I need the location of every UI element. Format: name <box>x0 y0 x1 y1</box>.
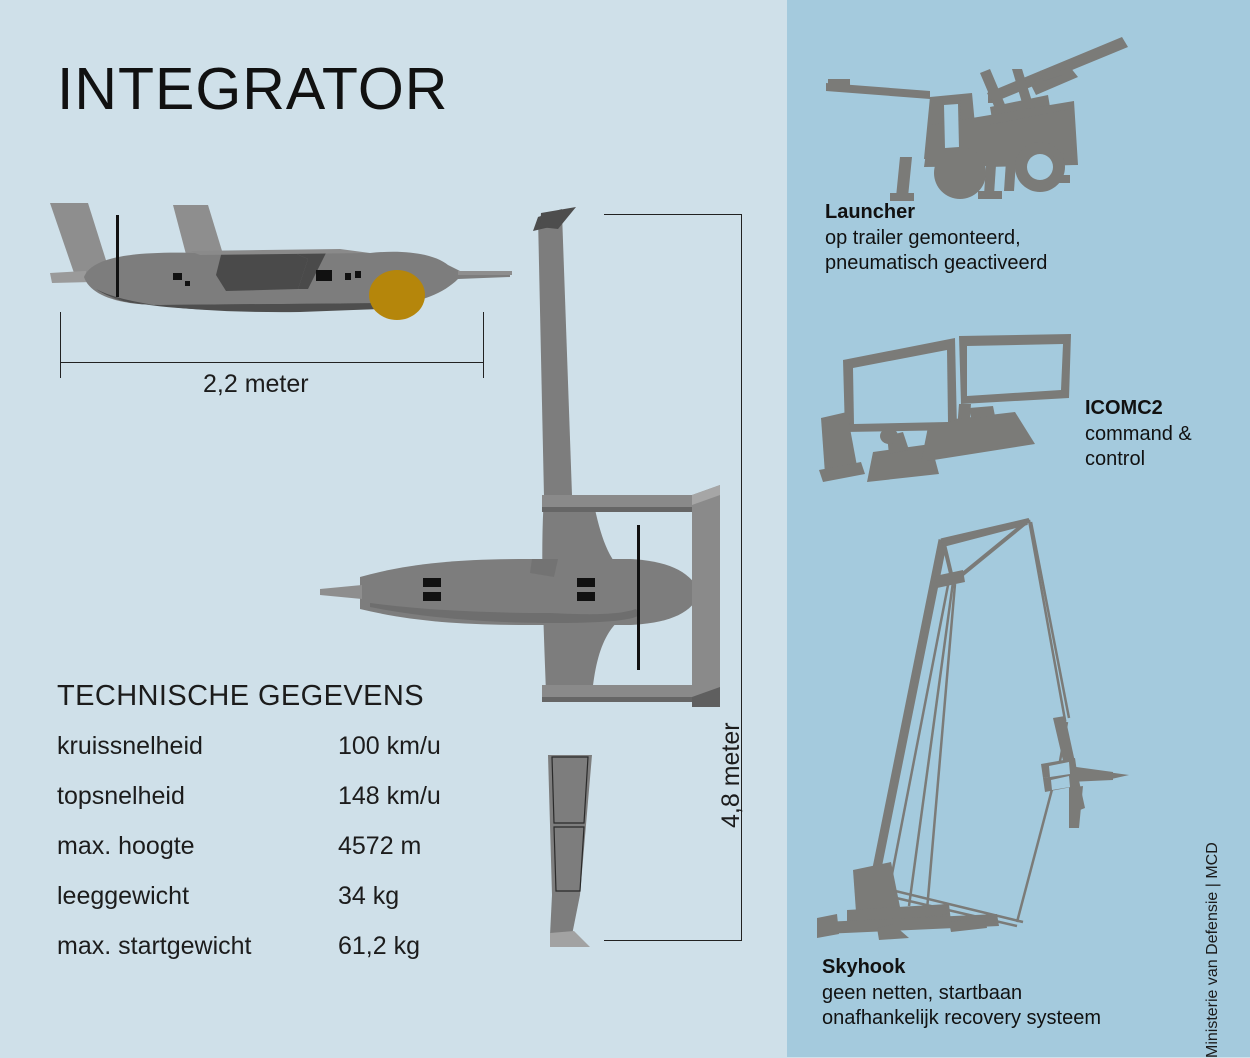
ground-control-station-silhouette <box>817 332 1097 492</box>
spec-value: 148 km/u <box>338 782 441 811</box>
wingspan-dimension-line-bottom <box>604 940 742 941</box>
callout-icomc2: ICOMC2 command & control <box>1085 396 1250 473</box>
spec-label: topsnelheid <box>57 782 338 811</box>
spec-label: kruissnelheid <box>57 732 338 761</box>
spec-label: max. startgewicht <box>57 932 338 961</box>
spec-label: max. hoogte <box>57 832 338 861</box>
table-row: max. hoogte 4572 m <box>57 832 477 882</box>
spec-value: 100 km/u <box>338 732 441 761</box>
callout-title: Skyhook <box>822 955 1122 981</box>
length-dimension-label: 2,2 meter <box>203 370 309 399</box>
specs-table: kruissnelheid 100 km/u topsnelheid 148 k… <box>57 732 477 982</box>
wingspan-dimension-line <box>741 214 742 941</box>
left-panel: INTEGRATOR <box>0 0 787 1057</box>
spec-label: leeggewicht <box>57 882 338 911</box>
right-panel: Launcher op trailer gemonteerd, pneumati… <box>787 0 1250 1057</box>
callout-line: control <box>1085 447 1250 473</box>
credit-text: Ministerie van Defensie | MCD <box>1204 842 1222 1058</box>
table-row: topsnelheid 148 km/u <box>57 782 477 832</box>
wingspan-dimension-line-top <box>604 214 742 215</box>
callout-launcher: Launcher op trailer gemonteerd, pneumati… <box>825 200 1125 277</box>
skyhook-silhouette <box>817 510 1137 940</box>
callout-line: pneumatisch geactiveerd <box>825 251 1125 277</box>
length-dimension-tick-left <box>60 312 61 378</box>
table-row: leeggewicht 34 kg <box>57 882 477 932</box>
callout-skyhook: Skyhook geen netten, startbaan onafhanke… <box>822 955 1122 1032</box>
callout-line: command & <box>1085 422 1250 448</box>
spec-value: 4572 m <box>338 832 421 861</box>
infographic-page: INTEGRATOR <box>0 0 1250 1057</box>
spec-value: 61,2 kg <box>338 932 420 961</box>
page-title: INTEGRATOR <box>57 60 448 119</box>
table-row: max. startgewicht 61,2 kg <box>57 932 477 982</box>
spec-value: 34 kg <box>338 882 399 911</box>
callout-line: op trailer gemonteerd, <box>825 226 1125 252</box>
callout-line: geen netten, startbaan <box>822 981 1122 1007</box>
callout-title: Launcher <box>825 200 1125 226</box>
table-row: kruissnelheid 100 km/u <box>57 732 477 782</box>
callout-title: ICOMC2 <box>1085 396 1250 422</box>
wingspan-dimension-label: 4,8 meter <box>717 722 746 828</box>
callout-line: onafhankelijk recovery systeem <box>822 1006 1122 1032</box>
specs-heading: TECHNISCHE GEGEVENS <box>57 680 424 713</box>
launcher-silhouette <box>812 25 1132 205</box>
